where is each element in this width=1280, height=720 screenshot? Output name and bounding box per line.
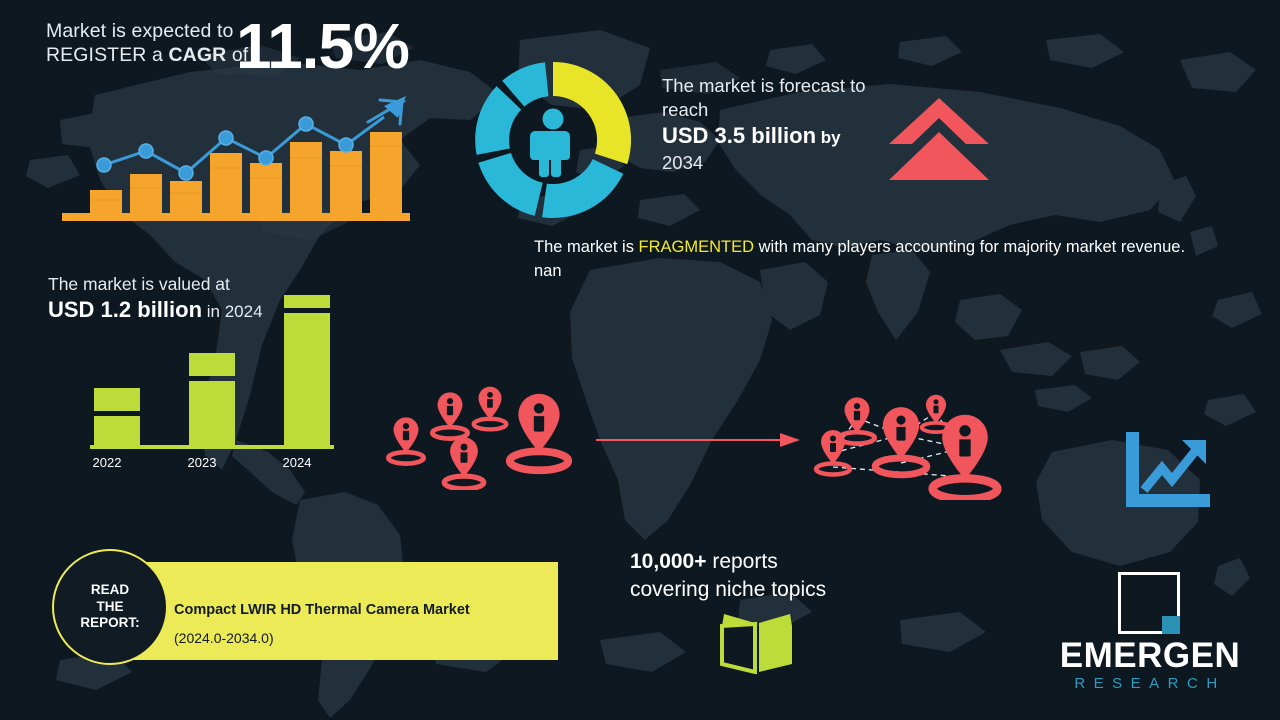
forecast-value-row: USD 3.5 billion by (662, 122, 892, 151)
bar-2024-upper (284, 295, 330, 308)
forecast-year: 2034 (662, 151, 892, 175)
read-line-3: REPORT: (80, 615, 139, 632)
logo-name: EMERGEN (1050, 638, 1250, 673)
forecast-by-text: by (816, 128, 841, 147)
fragmentation-prefix: The market is (534, 238, 639, 256)
valuation-line-1: The market is valued at (48, 273, 348, 296)
reports-count-value: 10,000+ (630, 550, 707, 573)
logo-accent (1162, 616, 1180, 634)
forecast-text-block: The market is forecast to reach USD 3.5 … (662, 74, 892, 175)
connected-market-pins (805, 385, 1020, 500)
read-the-report-badge[interactable]: READ THE REPORT: (52, 549, 168, 665)
map-pin-person-icon (444, 437, 483, 489)
emergen-research-logo[interactable]: EMERGEN RESEARCH (1050, 572, 1250, 692)
read-line-1: READ (80, 582, 139, 599)
market-value-bar-chart (84, 295, 334, 451)
open-book-icon (718, 612, 796, 674)
forecast-value: USD 3.5 billion (662, 123, 816, 148)
cagr-register-text: REGISTER a (46, 44, 168, 66)
fragmentation-text-block: The market is FRAGMENTED with many playe… (534, 236, 1206, 284)
bar-2022-lower (94, 416, 140, 445)
map-pin-person-icon (933, 415, 998, 500)
forecast-line-1: The market is forecast to (662, 74, 892, 98)
reports-line-1-rest: reports (707, 550, 778, 573)
donut-slice-cyan-2 (478, 153, 542, 216)
reports-count-text: 10,000+ reports covering niche topics (630, 548, 910, 605)
bar-2022-upper (94, 388, 140, 411)
map-pin-person-icon (474, 387, 507, 430)
bar-chart-baseline (90, 445, 334, 449)
forecast-line-2: reach (662, 98, 892, 122)
read-report-banner[interactable]: Compact LWIR HD Thermal Camera Market (2… (128, 562, 558, 660)
donut-slice-cyan-3 (475, 86, 521, 155)
cagr-value: 11.5% (236, 14, 409, 78)
logo-square-icon (1118, 572, 1180, 634)
bar-label-2024: 2024 (267, 455, 327, 470)
bar-label-2023: 2023 (172, 455, 232, 470)
map-pin-person-icon (510, 394, 568, 471)
right-arrow-icon (596, 430, 802, 450)
growth-chart-bars (62, 88, 412, 223)
report-title: Compact LWIR HD Thermal Camera Market (174, 602, 470, 618)
fragmentation-highlight: FRAGMENTED (639, 238, 755, 256)
map-pin-person-icon (875, 407, 927, 475)
bar-2023-lower (189, 381, 235, 445)
reports-line-1: 10,000+ reports (630, 548, 910, 576)
scattered-market-pins (380, 385, 580, 490)
logo-subtitle: RESEARCH (1050, 676, 1250, 691)
read-report-label: READ THE REPORT: (80, 582, 139, 633)
person-icon (530, 109, 570, 178)
growth-chart-icon (1122, 432, 1212, 514)
read-line-2: THE (80, 599, 139, 616)
reports-line-2: covering niche topics (630, 576, 910, 604)
chart-baseline (62, 213, 410, 221)
double-up-arrow-icon (884, 96, 994, 182)
map-pin-person-icon (432, 392, 467, 438)
map-pin-person-icon (388, 417, 423, 463)
bar-2024-lower (284, 313, 330, 445)
report-period: (2024.0-2034.0) (174, 630, 274, 646)
infographic-canvas: Market is expected to REGISTER a CAGR of… (0, 0, 1280, 720)
bar-label-2022: 2022 (77, 455, 137, 470)
bar-2023-upper (189, 353, 235, 376)
cagr-label: CAGR (168, 44, 226, 66)
market-share-donut-chart (468, 55, 638, 225)
